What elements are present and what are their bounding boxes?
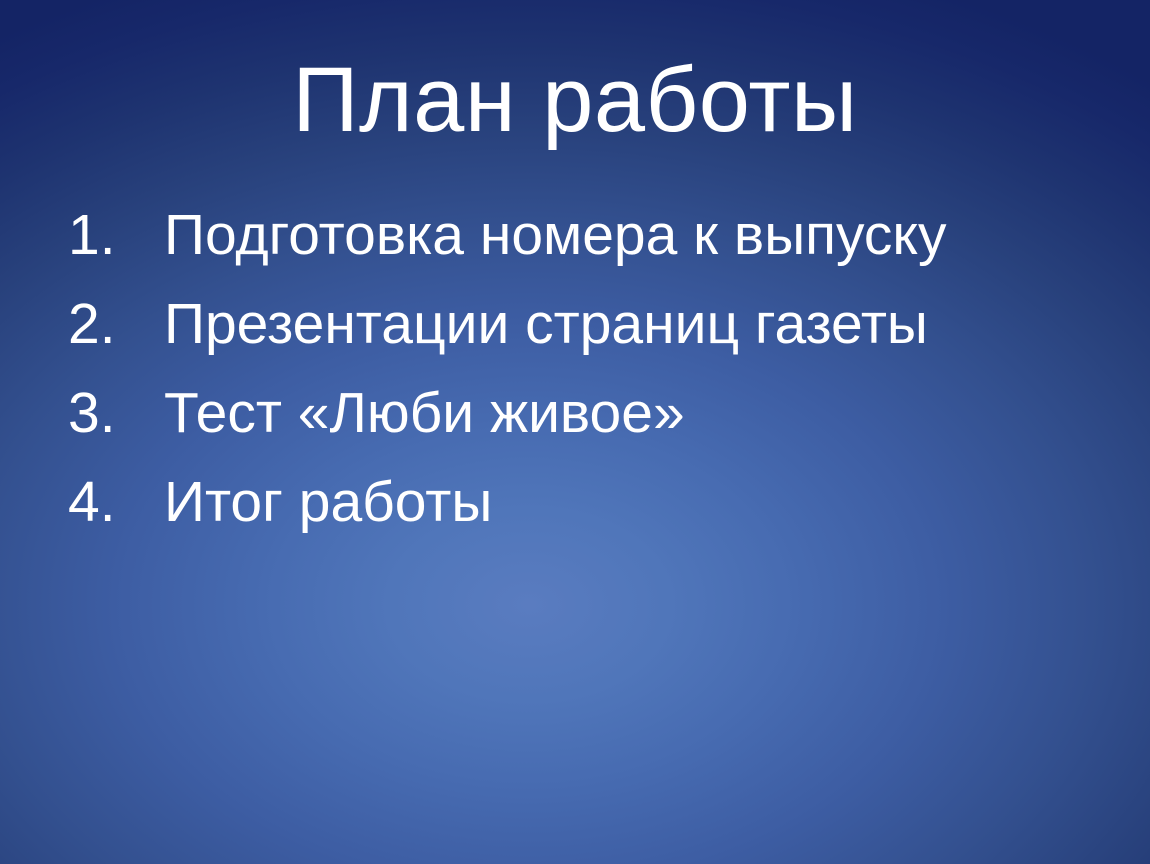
list-item-label: Итог работы: [164, 474, 1088, 531]
presentation-slide: План работы 1. Подготовка номера к выпус…: [0, 0, 1150, 864]
list-item-label: Подготовка номера к выпуску: [164, 207, 1088, 264]
list-item: 3. Тест «Люби живое»: [68, 385, 1088, 474]
list-item-marker: 4.: [68, 474, 164, 531]
list-item-marker: 2.: [68, 296, 164, 353]
list-item: 1. Подготовка номера к выпуску: [68, 207, 1088, 296]
list-item-marker: 1.: [68, 207, 164, 264]
slide-title: План работы: [0, 52, 1150, 149]
list-item-marker: 3.: [68, 385, 164, 442]
list-item-label: Презентации страниц газеты: [164, 296, 1088, 353]
list-item: 2. Презентации страниц газеты: [68, 296, 1088, 385]
list-item: 4. Итог работы: [68, 474, 1088, 563]
numbered-list: 1. Подготовка номера к выпуску 2. Презен…: [68, 207, 1088, 563]
list-item-label: Тест «Люби живое»: [164, 385, 1088, 442]
